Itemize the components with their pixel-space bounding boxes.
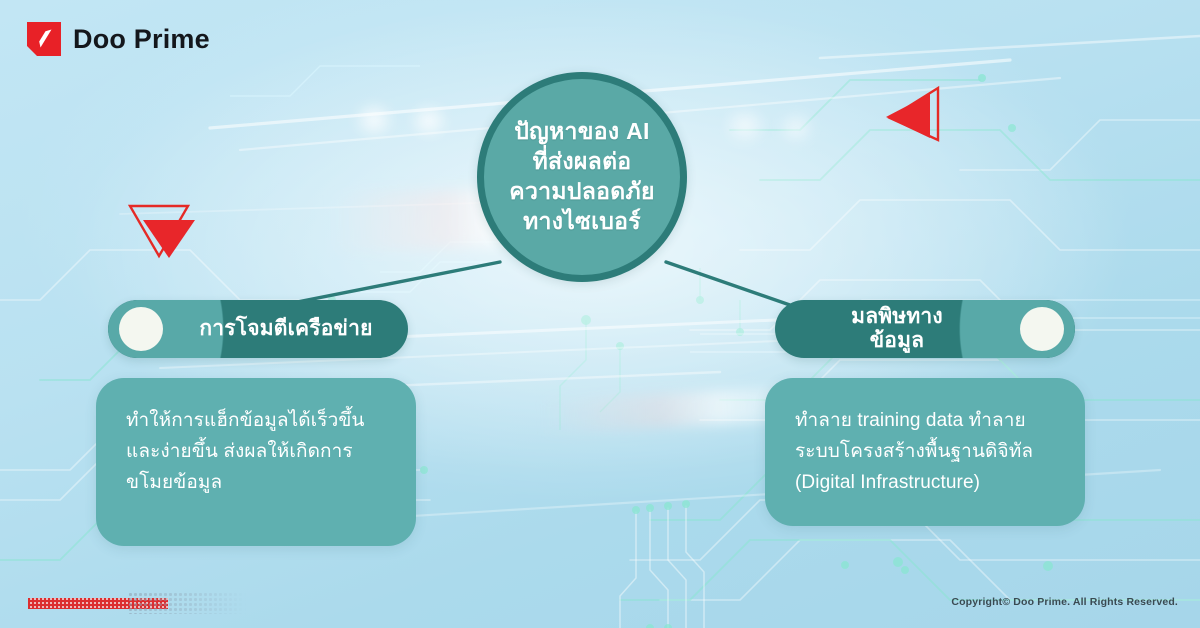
doo-prime-logo-mark-icon <box>27 22 61 56</box>
center-node: ปัญหาของ AI ที่ส่งผลต่อ ความปลอดภัย ทางไ… <box>477 72 687 282</box>
branch-label-data-pollution[interactable]: มลพิษทาง ข้อมูล <box>775 300 1075 358</box>
branch-body-data-pollution: ทำลาย training data ทำลาย ระบบโครงสร้างพ… <box>765 378 1085 526</box>
branch-body-text: ทำให้การแฮ็กข้อมูลได้เร็วขึ้น และง่ายขึ้… <box>126 406 386 498</box>
pill-bullet-icon <box>1020 307 1064 351</box>
branch-label-network-attack[interactable]: การโจมตีเครือข่าย <box>108 300 408 358</box>
branch-body-network-attack: ทำให้การแฮ็กข้อมูลได้เร็วขึ้น และง่ายขึ้… <box>96 378 416 546</box>
red-triangle-down-icon <box>126 200 198 262</box>
branch-label-text: การโจมตีเครือข่าย <box>180 300 392 358</box>
pill-bullet-icon <box>119 307 163 351</box>
brand-name: Doo Prime <box>73 24 210 55</box>
branch-body-text: ทำลาย training data ทำลาย ระบบโครงสร้างพ… <box>795 406 1055 498</box>
copyright-text: Copyright© Doo Prime. All Rights Reserve… <box>951 596 1178 608</box>
center-title: ปัญหาของ AI ที่ส่งผลต่อ ความปลอดภัย ทางไ… <box>499 117 664 237</box>
footer-decoration <box>28 592 243 614</box>
branch-label-text: มลพิษทาง ข้อมูล <box>791 300 1003 358</box>
grey-dot-bar-icon <box>128 592 246 614</box>
red-triangle-left-icon <box>884 84 946 146</box>
infographic-canvas: Doo Prime ปัญหาของ AI ที่ส่งผลต่อ ความปล… <box>0 0 1200 628</box>
brand-logo[interactable]: Doo Prime <box>27 22 210 56</box>
